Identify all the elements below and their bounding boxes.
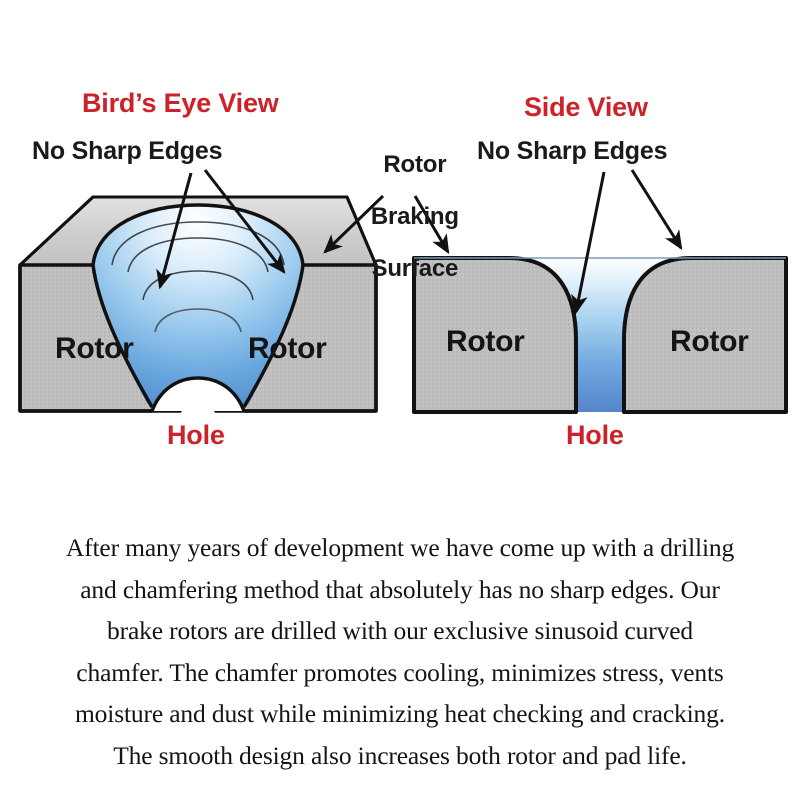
description-paragraph: After many years of development we have … xyxy=(8,527,792,776)
side-view-diagram xyxy=(414,170,786,412)
birds-eye-view-title: Bird’s Eye View xyxy=(82,88,279,118)
paragraph-line-3: brake rotors are drilled with our exclus… xyxy=(8,610,792,652)
side-view-title: Side View xyxy=(524,92,648,122)
side-view-no-sharp-edges-label: No Sharp Edges xyxy=(477,137,667,165)
birds-eye-rotor-label-right: Rotor xyxy=(248,332,326,366)
paragraph-line-4: chamfer. The chamfer promotes cooling, m… xyxy=(8,652,792,694)
rotor-braking-surface-line2: Braking xyxy=(371,203,459,230)
side-view-hole-label: Hole xyxy=(566,420,624,451)
arrow-no-sharp-edges-right-b xyxy=(632,170,681,248)
illustration-page: Bird’s Eye View No Sharp Edges Rotor Bra… xyxy=(0,0,800,800)
birds-eye-no-sharp-edges-label: No Sharp Edges xyxy=(32,137,222,165)
paragraph-line-6: The smooth design also increases both ro… xyxy=(8,735,792,777)
birds-eye-diagram xyxy=(20,170,383,411)
paragraph-line-5: moisture and dust while minimizing heat … xyxy=(8,693,792,735)
side-view-rotor-label-left: Rotor xyxy=(446,325,524,359)
paragraph-line-2: and chamfering method that absolutely ha… xyxy=(8,569,792,611)
birds-eye-hole-label: Hole xyxy=(167,420,225,451)
rotor-braking-surface-label: Rotor Braking Surface xyxy=(345,126,459,308)
paragraph-line-1: After many years of development we have … xyxy=(8,527,792,569)
rotor-braking-surface-line1: Rotor xyxy=(383,151,446,178)
rotor-braking-surface-line3: Surface xyxy=(372,255,459,282)
birds-eye-rotor-label-left: Rotor xyxy=(55,332,133,366)
side-view-rotor-label-right: Rotor xyxy=(670,325,748,359)
